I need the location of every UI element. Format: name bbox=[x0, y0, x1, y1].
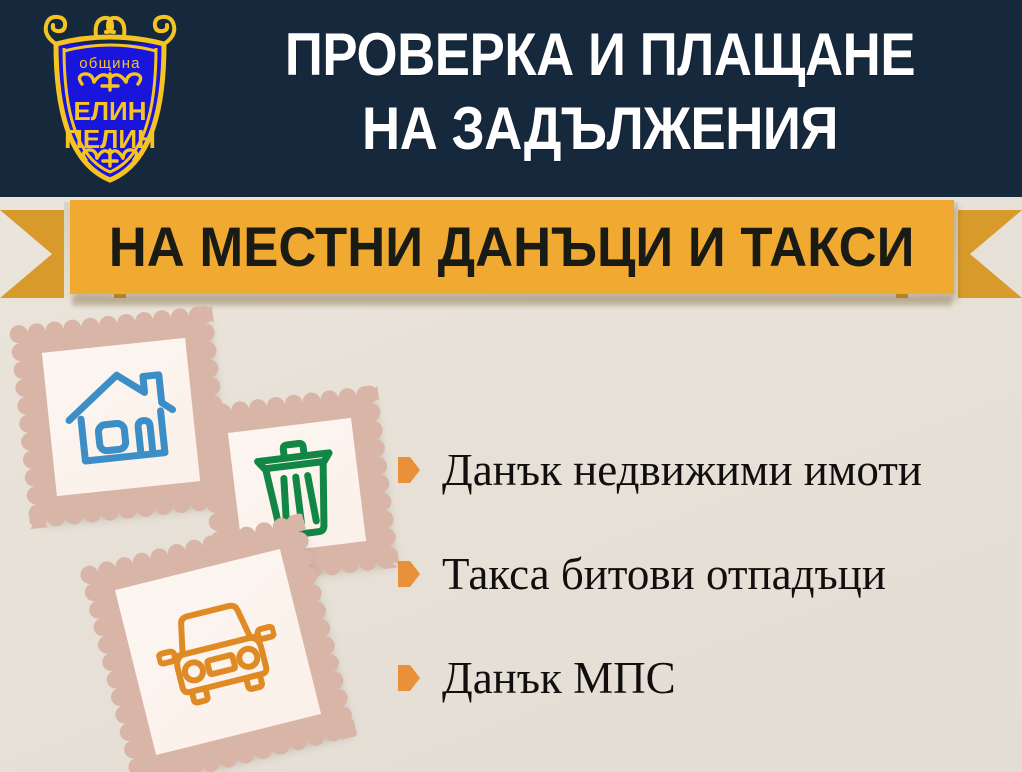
arrow-bullet-icon bbox=[398, 457, 420, 483]
arrow-bullet-icon bbox=[398, 561, 420, 587]
ribbon-shadow bbox=[72, 296, 952, 306]
tax-type-list: Данък недвижими имоти Такса битови отпад… bbox=[398, 418, 1008, 730]
ribbon-band: НА МЕСТНИ ДАНЪЦИ И ТАКСИ bbox=[70, 200, 954, 294]
list-item-label: Такса битови отпадъци bbox=[442, 549, 886, 599]
page-title: ПРОВЕРКА И ПЛАЩАНЕ НА ЗАДЪЛЖЕНИЯ bbox=[239, 18, 961, 166]
poster-root: община ЕЛИН ПЕЛИН ПРОВЕРКА И ПЛАЩАНЕ НА … bbox=[0, 0, 1022, 772]
list-item[interactable]: Данък МПС bbox=[398, 626, 1008, 730]
ribbon-banner: НА МЕСТНИ ДАНЪЦИ И ТАКСИ bbox=[0, 196, 1022, 306]
list-item[interactable]: Данък недвижими имоти bbox=[398, 418, 1008, 522]
car-front-icon bbox=[147, 589, 290, 716]
list-item-label: Данък МПС bbox=[442, 653, 676, 703]
house-icon bbox=[58, 359, 184, 475]
arrow-bullet-icon bbox=[398, 665, 420, 691]
list-item[interactable]: Такса битови отпадъци bbox=[398, 522, 1008, 626]
ribbon-label: НА МЕСТНИ ДАНЪЦИ И ТАКСИ bbox=[109, 218, 915, 276]
stamp-card-vehicle bbox=[90, 524, 347, 772]
coat-of-arms-icon: община ЕЛИН ПЕЛИН bbox=[34, 8, 186, 190]
svg-text:община: община bbox=[79, 55, 140, 72]
stamp-card-property bbox=[19, 315, 223, 519]
stamp-paper bbox=[115, 549, 321, 755]
stamp-paper bbox=[42, 338, 200, 496]
stamp-edge-right bbox=[359, 384, 399, 569]
svg-text:ЕЛИН: ЕЛИН bbox=[73, 96, 146, 126]
list-item-label: Данък недвижими имоти bbox=[442, 445, 922, 495]
